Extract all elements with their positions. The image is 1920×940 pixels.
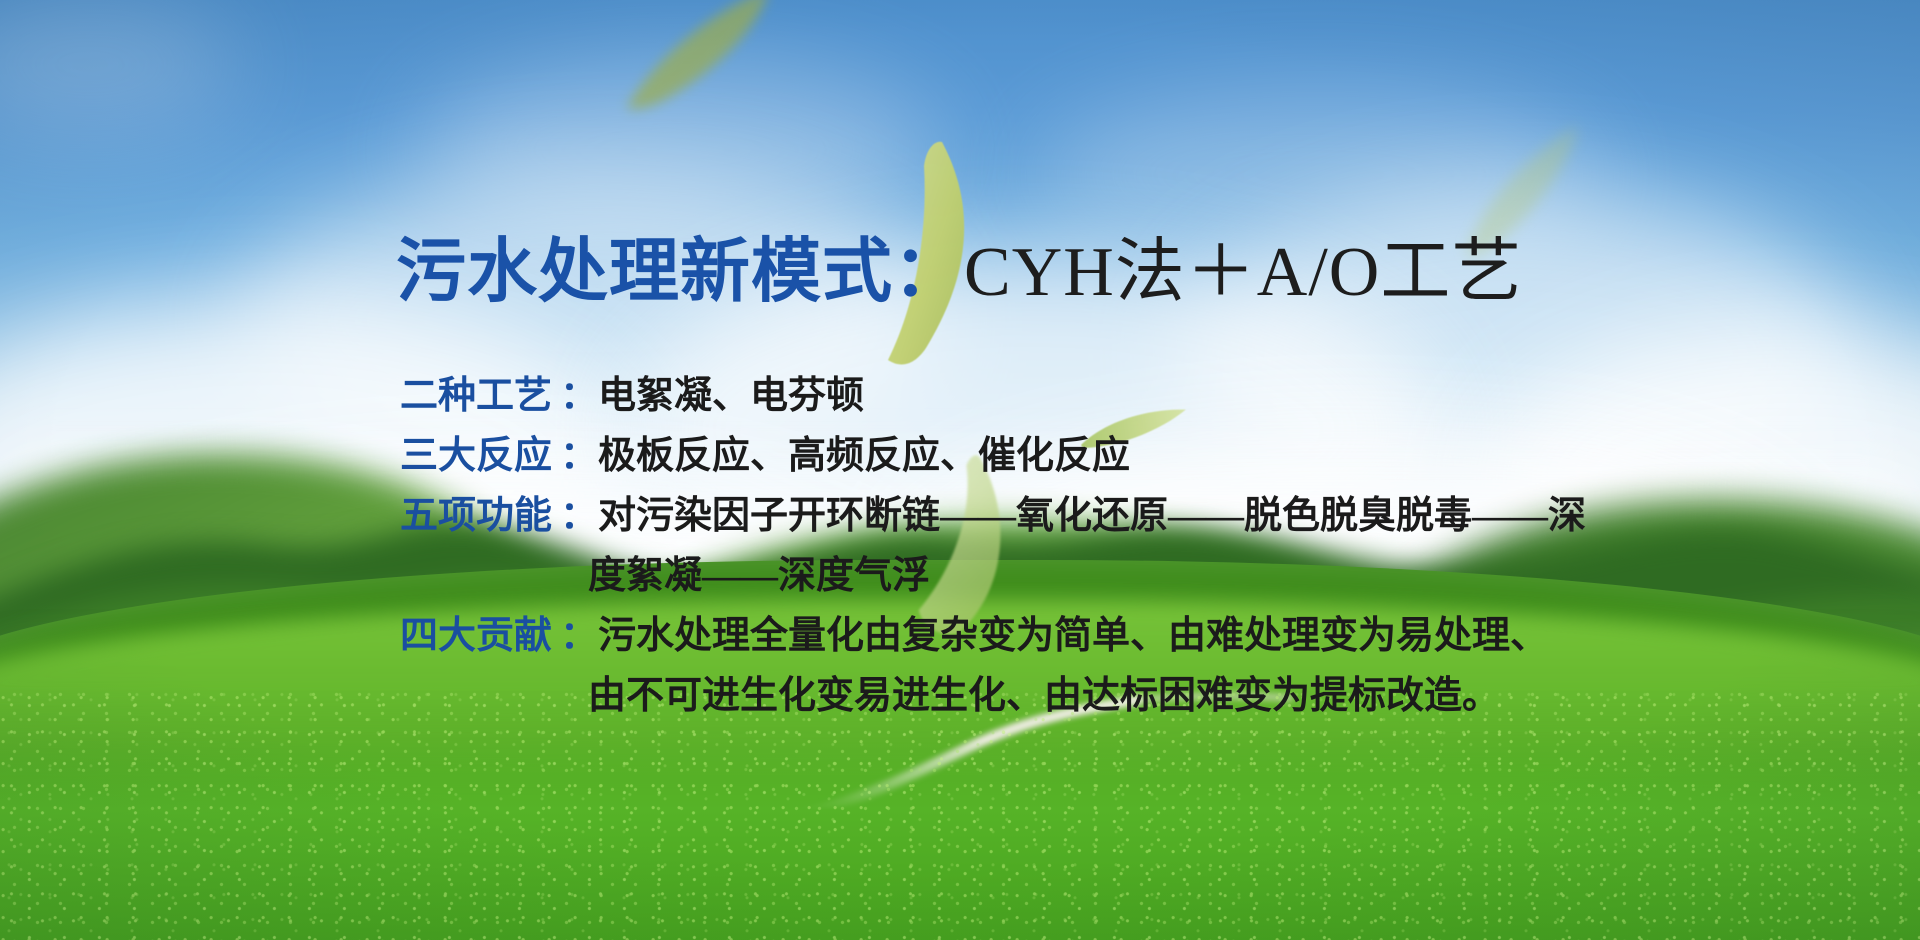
list-item: 四大贡献：污水处理全量化由复杂变为简单、由难处理变为易处理、	[400, 606, 1586, 666]
row-continuation: 由不可进生化变易进生化、由达标困难变为提标改造。	[588, 666, 1586, 726]
row-colon: ：	[560, 606, 598, 666]
row-continuation: 度絮凝——深度气浮	[588, 546, 1586, 606]
text-overlay: 污水处理新模式：CYH法＋A/O工艺 二种工艺：电絮凝、电芬顿 三大反应：极板反…	[0, 0, 1920, 940]
row-value: 电絮凝、电芬顿	[598, 366, 864, 426]
page-title: 污水处理新模式：CYH法＋A/O工艺	[396, 238, 1522, 308]
list-item: 五项功能：对污染因子开环断链——氧化还原——脱色脱臭脱毒——深	[400, 486, 1586, 546]
row-label: 二种工艺	[400, 366, 560, 426]
promo-slide: 污水处理新模式：CYH法＋A/O工艺 二种工艺：电絮凝、电芬顿 三大反应：极板反…	[0, 0, 1920, 940]
row-label: 五项功能	[400, 486, 560, 546]
feature-list: 二种工艺：电絮凝、电芬顿 三大反应：极板反应、高频反应、催化反应 五项功能：对污…	[400, 366, 1586, 726]
title-rest: CYH法＋A/O工艺	[964, 234, 1522, 311]
row-value: 对污染因子开环断链——氧化还原——脱色脱臭脱毒——深	[598, 486, 1586, 546]
row-value: 极板反应、高频反应、催化反应	[598, 426, 1130, 486]
title-highlight: 污水处理新模式：	[396, 234, 964, 311]
list-item: 三大反应：极板反应、高频反应、催化反应	[400, 426, 1586, 486]
row-colon: ：	[560, 366, 598, 426]
row-colon: ：	[560, 486, 598, 546]
list-item: 二种工艺：电絮凝、电芬顿	[400, 366, 1586, 426]
row-value: 污水处理全量化由复杂变为简单、由难处理变为易处理、	[598, 606, 1548, 666]
row-colon: ：	[560, 426, 598, 486]
row-label: 三大反应	[400, 426, 560, 486]
row-label: 四大贡献	[400, 606, 560, 666]
